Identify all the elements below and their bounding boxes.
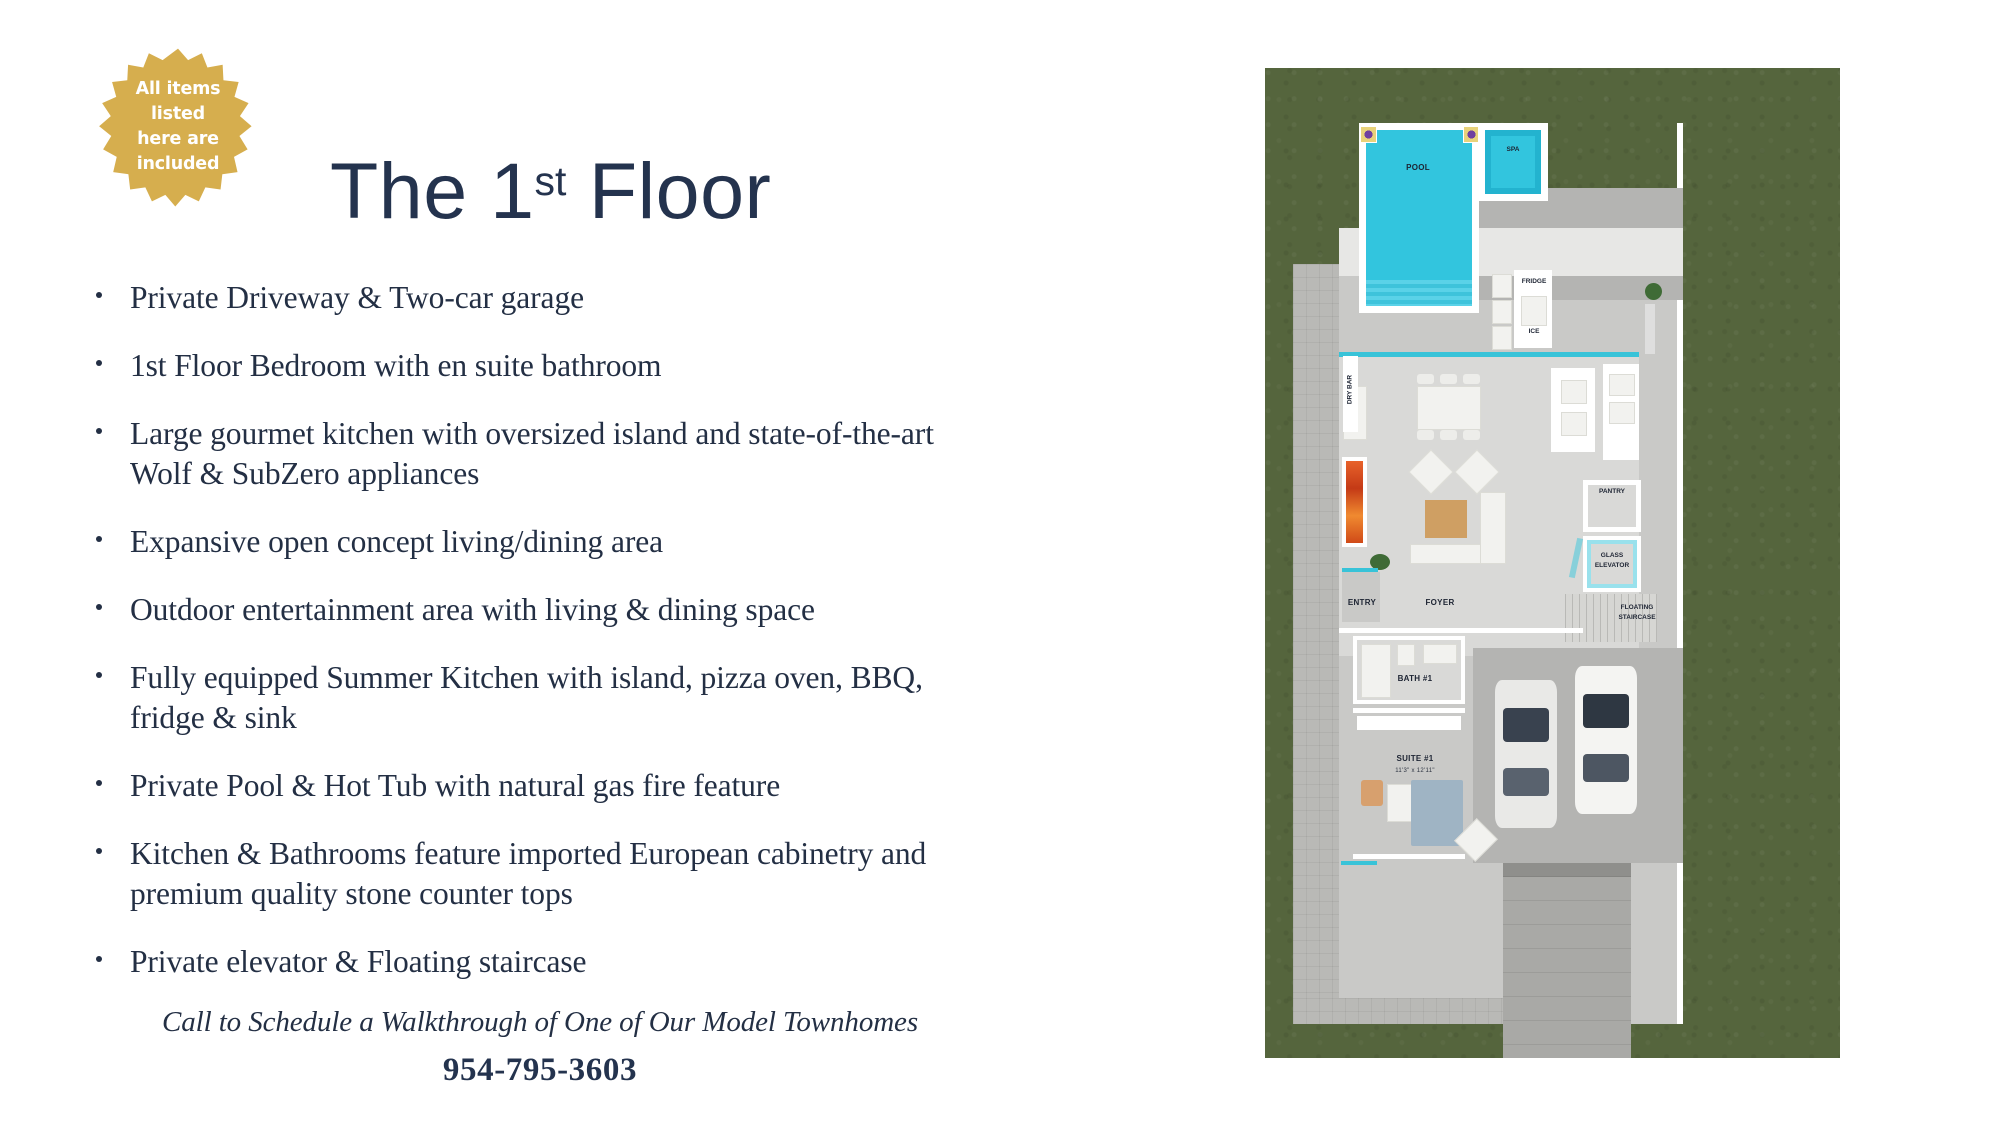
foyer-divider-wall bbox=[1339, 628, 1583, 633]
feature-list: Private Driveway & Two-car garage 1st Fl… bbox=[88, 278, 968, 1010]
badge-line-3: here are bbox=[137, 127, 219, 152]
bullet-icon bbox=[96, 428, 102, 434]
cooktop-icon bbox=[1561, 380, 1587, 404]
list-item: Expansive open concept living/dining are… bbox=[88, 522, 968, 562]
feature-text: Private elevator & Floating staircase bbox=[130, 944, 586, 979]
shower-icon bbox=[1361, 644, 1391, 698]
summer-kitchen-cabinet-2 bbox=[1492, 300, 1512, 324]
umbrella-icon-left bbox=[1360, 126, 1377, 143]
entry-pad bbox=[1342, 572, 1380, 622]
bullet-icon bbox=[96, 780, 102, 786]
spa-inner bbox=[1491, 136, 1535, 188]
list-item: Kitchen & Bathrooms feature imported Eur… bbox=[88, 834, 968, 914]
list-item: Outdoor entertainment area with living &… bbox=[88, 590, 968, 630]
car-left-windshield bbox=[1503, 708, 1549, 742]
coffee-table bbox=[1425, 500, 1467, 538]
list-item: Private elevator & Floating staircase bbox=[88, 942, 968, 982]
badge-text: All items listed here are included bbox=[98, 47, 258, 207]
bullet-icon bbox=[96, 604, 102, 610]
title-ordinal: st bbox=[535, 158, 567, 204]
feature-text: Fully equipped Summer Kitchen with islan… bbox=[130, 660, 923, 735]
tall-cabinet-icon bbox=[1609, 402, 1635, 424]
bullet-icon bbox=[96, 536, 102, 542]
suite-dimensions-label: 11'3" x 12'11" bbox=[1373, 768, 1457, 774]
feature-text: 1st Floor Bedroom with en suite bathroom bbox=[130, 348, 661, 383]
dining-chair-2 bbox=[1440, 374, 1457, 384]
bath-label: BATH #1 bbox=[1375, 674, 1455, 683]
summer-kitchen-cabinet-1 bbox=[1492, 274, 1512, 298]
bullet-icon bbox=[96, 292, 102, 298]
wall-oven-icon bbox=[1609, 374, 1635, 396]
car-icon-right bbox=[1575, 666, 1637, 814]
dining-table bbox=[1417, 386, 1481, 430]
marketing-page: All items listed here are included The 1… bbox=[0, 0, 2000, 1125]
glass-elevator-label-line2: ELEVATOR bbox=[1583, 562, 1641, 569]
car-left-rear-window bbox=[1503, 768, 1549, 796]
bullet-icon bbox=[96, 672, 102, 678]
badge-line-4: included bbox=[137, 152, 220, 177]
fridge-label: FRIDGE bbox=[1513, 278, 1555, 285]
feature-text: Private Pool & Hot Tub with natural gas … bbox=[130, 768, 780, 803]
foyer-label: FOYER bbox=[1405, 598, 1475, 607]
pool-label: POOL bbox=[1383, 163, 1453, 172]
toilet-icon bbox=[1397, 644, 1415, 666]
dining-chair-3 bbox=[1463, 374, 1480, 384]
content-column: All items listed here are included The 1… bbox=[0, 0, 1000, 1125]
shrub-icon-terrace bbox=[1645, 283, 1662, 300]
closet-band bbox=[1357, 716, 1461, 730]
list-item: Large gourmet kitchen with oversized isl… bbox=[88, 414, 968, 494]
floor-plan-image: POOL SPA FRIDGE ICE bbox=[1265, 68, 1840, 1058]
summer-kitchen-appliance bbox=[1521, 296, 1547, 326]
bed-pillows bbox=[1387, 784, 1413, 822]
pantry-label: PANTRY bbox=[1585, 488, 1639, 495]
list-item: Private Pool & Hot Tub with natural gas … bbox=[88, 766, 968, 806]
title-suffix: Floor bbox=[566, 146, 771, 235]
floating-staircase-label-line2: STAIRCASE bbox=[1607, 614, 1667, 621]
feature-text: Large gourmet kitchen with oversized isl… bbox=[130, 416, 934, 491]
car-icon-left bbox=[1495, 680, 1557, 828]
suite-label: SUITE #1 bbox=[1373, 754, 1457, 763]
included-badge: All items listed here are included bbox=[98, 47, 258, 207]
front-walkway bbox=[1293, 998, 1503, 1024]
pool-steps bbox=[1366, 280, 1472, 306]
spa-label: SPA bbox=[1493, 146, 1533, 153]
sink-icon bbox=[1561, 412, 1587, 436]
phone-number[interactable]: 954-795-3603 bbox=[110, 1052, 970, 1089]
summer-kitchen-cabinet-3 bbox=[1492, 326, 1512, 350]
driveway-apron bbox=[1503, 863, 1631, 877]
side-walkway bbox=[1293, 264, 1339, 1024]
fireplace-flame bbox=[1346, 461, 1363, 543]
ice-label: ICE bbox=[1517, 328, 1551, 335]
suite-window bbox=[1341, 861, 1377, 865]
feature-text: Kitchen & Bathrooms feature imported Eur… bbox=[130, 836, 926, 911]
list-item: Fully equipped Summer Kitchen with islan… bbox=[88, 658, 968, 738]
driveway-joint-lines bbox=[1503, 876, 1631, 1058]
terrace-post bbox=[1645, 304, 1655, 354]
bed-icon bbox=[1411, 780, 1463, 846]
suite-wall-top bbox=[1353, 708, 1465, 713]
title-prefix: The 1 bbox=[330, 146, 535, 235]
dining-chair-4 bbox=[1417, 430, 1434, 440]
entry-label: ENTRY bbox=[1327, 598, 1397, 607]
list-item: Private Driveway & Two-car garage bbox=[88, 278, 968, 318]
dining-chair-1 bbox=[1417, 374, 1434, 384]
car-right-rear-window bbox=[1583, 754, 1629, 782]
suite-wall-bottom bbox=[1353, 854, 1465, 859]
sectional-sofa-arm bbox=[1480, 492, 1506, 564]
nightstand-icon bbox=[1361, 780, 1383, 806]
car-right-windshield bbox=[1583, 694, 1629, 728]
floating-staircase-label-line1: FLOATING bbox=[1609, 604, 1665, 611]
dry-bar-label: DRY BAR bbox=[1347, 367, 1354, 413]
badge-line-2: listed bbox=[151, 102, 205, 127]
dining-chair-5 bbox=[1440, 430, 1457, 440]
dining-chair-6 bbox=[1463, 430, 1480, 440]
call-to-action-text: Call to Schedule a Walkthrough of One of… bbox=[110, 1006, 970, 1039]
bullet-icon bbox=[96, 360, 102, 366]
feature-text: Outdoor entertainment area with living &… bbox=[130, 592, 815, 627]
rear-glass-wall bbox=[1339, 352, 1639, 357]
page-title: The 1st Floor bbox=[330, 145, 771, 237]
bullet-icon bbox=[96, 956, 102, 962]
vanity-icon bbox=[1423, 644, 1457, 664]
feature-text: Private Driveway & Two-car garage bbox=[130, 280, 584, 315]
list-item: 1st Floor Bedroom with en suite bathroom bbox=[88, 346, 968, 386]
badge-line-1: All items bbox=[136, 77, 221, 102]
bullet-icon bbox=[96, 848, 102, 854]
feature-text: Expansive open concept living/dining are… bbox=[130, 524, 663, 559]
glass-elevator-label-line1: GLASS bbox=[1585, 552, 1639, 559]
